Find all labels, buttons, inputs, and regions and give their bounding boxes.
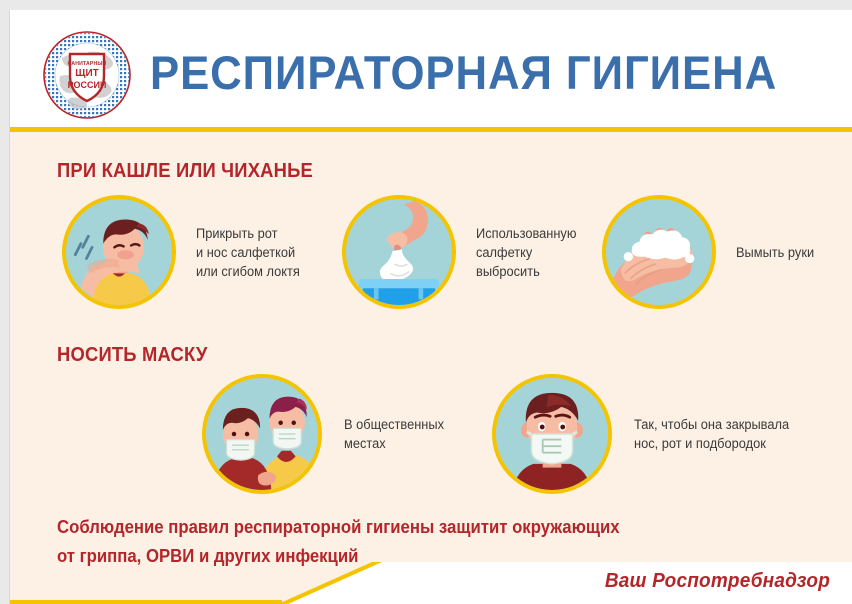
footer-left-rule	[10, 600, 282, 604]
person-sneezing-into-elbow-icon	[62, 195, 176, 309]
hand-dropping-tissue-into-bin-icon	[342, 195, 456, 309]
caption-discard-tissue: Использованную салфетку выбросить	[476, 224, 576, 281]
logo-line2: ЩИТ	[75, 68, 99, 79]
logo-line1: САНИТАРНЫЙ	[68, 59, 107, 67]
item-discard-tissue: Использованную салфетку выбросить	[342, 195, 582, 309]
caption-cover-mouth: Прикрыть рот и нос салфеткой или сгибом …	[196, 224, 300, 281]
item-wash-hands: Вымыть руки	[602, 195, 818, 309]
caption-mask-coverage: Так, чтобы она закрывала нос, рот и подб…	[634, 415, 789, 453]
page-title: РЕСПИРАТОРНАЯ ГИГИЕНА	[150, 43, 777, 103]
signature-rospotrebnadzor: Ваш Роспотребнадзор	[605, 570, 830, 593]
item-cover-mouth: Прикрыть рот и нос салфеткой или сгибом …	[62, 195, 305, 309]
section-title-mask: НОСИТЬ МАСКУ	[57, 344, 207, 367]
content-area: ПРИ КАШЛЕ ИЛИ ЧИХАНЬЕ	[10, 132, 852, 552]
logo-line3: РОССИИ	[68, 80, 107, 90]
item-mask-coverage: Так, чтобы она закрывала нос, рот и подб…	[492, 374, 797, 494]
tissue-illustration	[346, 199, 452, 305]
item-public-places: В общественных местах	[202, 374, 449, 494]
washing-hands-with-soap-icon	[602, 195, 716, 309]
two-people-illustration	[206, 378, 318, 490]
wash-illustration	[606, 199, 712, 305]
poster: САНИТАРНЫЙ ЩИТ РОССИИ РЕСПИРАТОРНАЯ ГИГИ…	[10, 10, 852, 604]
caption-wash-hands: Вымыть руки	[736, 243, 814, 262]
elbow-illustration	[66, 199, 172, 305]
mask-face-illustration	[496, 378, 608, 490]
person-mask-covering-face-icon	[492, 374, 612, 494]
header: САНИТАРНЫЙ ЩИТ РОССИИ РЕСПИРАТОРНАЯ ГИГИ…	[10, 10, 852, 127]
logo-graphic: САНИТАРНЫЙ ЩИТ РОССИИ	[40, 28, 134, 122]
two-people-wearing-masks-icon	[202, 374, 322, 494]
sanitary-shield-russia-logo: САНИТАРНЫЙ ЩИТ РОССИИ	[40, 28, 134, 122]
caption-public-places: В общественных местах	[344, 415, 444, 453]
section-title-cough: ПРИ КАШЛЕ ИЛИ ЧИХАНЬЕ	[57, 160, 313, 183]
